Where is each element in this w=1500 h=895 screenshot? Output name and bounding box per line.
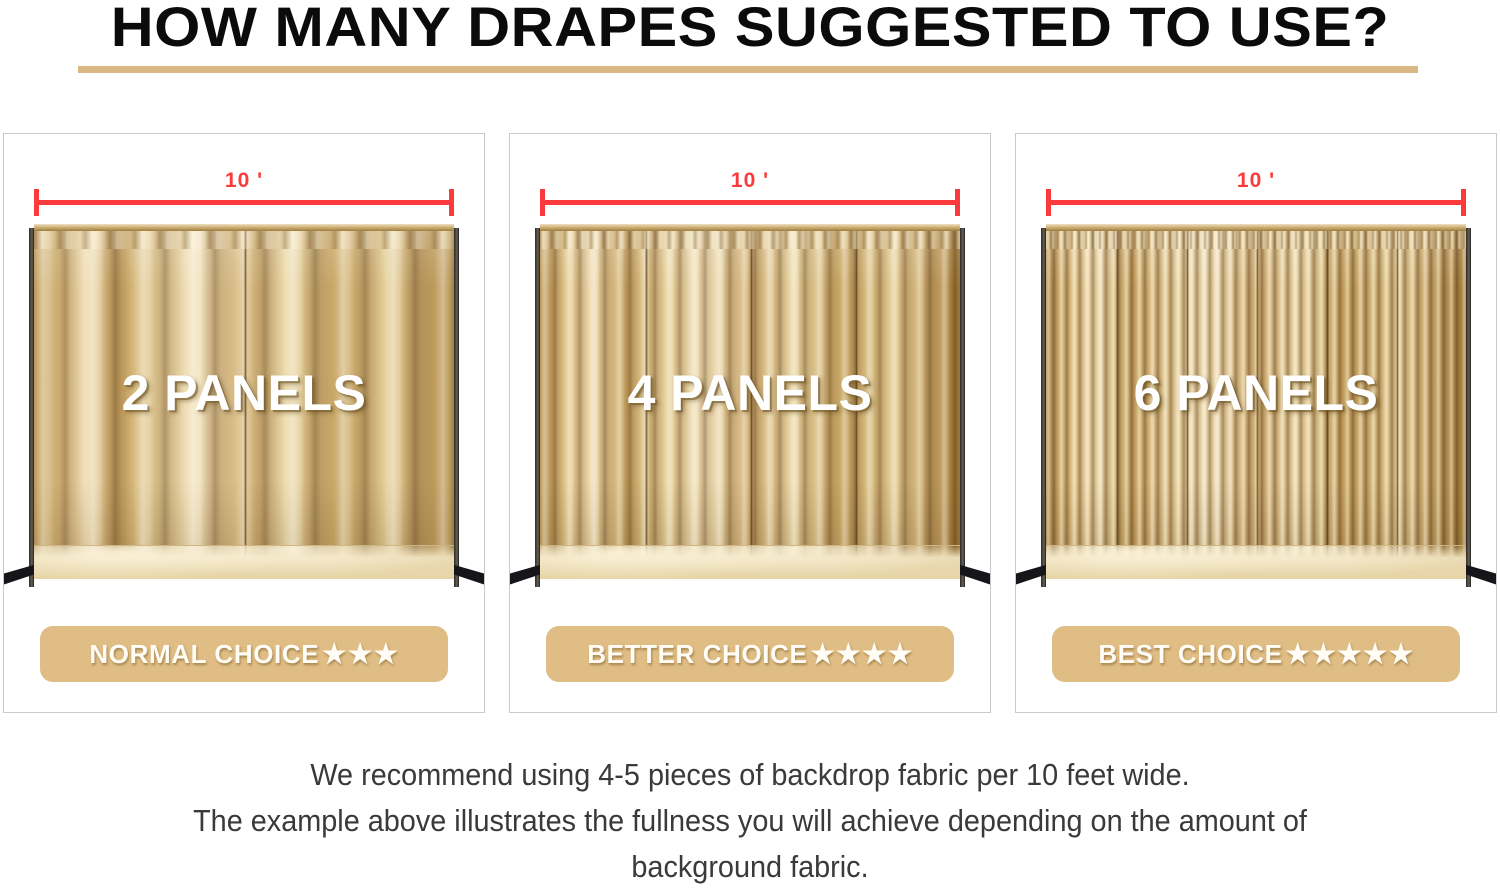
dimension-cap-right-icon (1461, 189, 1466, 216)
star-icon: ★ (1311, 641, 1336, 668)
curtain-hem (1046, 545, 1466, 579)
dimension-line (1046, 200, 1466, 205)
footer-line-1: We recommend using 4-5 pieces of backdro… (53, 752, 1448, 798)
dimension-label: 10 ' (540, 170, 960, 192)
star-rating-3: ★★★ (321, 641, 398, 668)
width-dimension-4-panels: 10 ' (540, 170, 960, 214)
curtain-gathered-top (1046, 229, 1466, 249)
star-icon: ★ (348, 641, 373, 668)
curtain-hem (34, 545, 454, 579)
star-icon: ★ (862, 641, 887, 668)
panel-count-label-2: 2 PANELS (4, 366, 484, 420)
comparison-card-row: 10 ' 2 PANEL (3, 133, 1497, 713)
dimension-cap-right-icon (449, 189, 454, 216)
curtain-hem (540, 545, 960, 579)
dimension-cap-left-icon (540, 189, 545, 216)
dimension-label: 10 ' (1046, 170, 1466, 192)
backdrop-rod (1046, 224, 1466, 231)
star-icon: ★ (836, 641, 861, 668)
dimension-cap-right-icon (955, 189, 960, 216)
dimension-cap-left-icon (34, 189, 39, 216)
header: HOW MANY DRAPES SUGGESTED TO USE? (0, 0, 1500, 90)
badge-label: BEST CHOICE (1098, 639, 1282, 670)
choice-badge-better[interactable]: BETTER CHOICE ★★★★ (546, 626, 954, 682)
star-rating-5: ★★★★★ (1285, 641, 1414, 668)
dimension-line (540, 200, 960, 205)
drape-option-card-6-panels[interactable]: 10 ' (1015, 133, 1497, 713)
width-dimension-6-panels: 10 ' (1046, 170, 1466, 214)
badge-content: NORMAL CHOICE ★★★ (89, 639, 398, 670)
choice-badge-normal[interactable]: NORMAL CHOICE ★★★ (40, 626, 448, 682)
drape-option-card-2-panels[interactable]: 10 ' 2 PANEL (3, 133, 485, 713)
star-icon: ★ (374, 641, 399, 668)
dimension-line (34, 200, 454, 205)
curtain-gathered-top (34, 229, 454, 249)
star-icon: ★ (1389, 641, 1414, 668)
page-title: HOW MANY DRAPES SUGGESTED TO USE? (0, 0, 1500, 58)
badge-content: BETTER CHOICE ★★★★ (587, 639, 912, 670)
footer-line-2: The example above illustrates the fullne… (53, 798, 1448, 844)
title-divider (78, 66, 1418, 73)
badge-label: NORMAL CHOICE (89, 639, 319, 670)
backdrop-rod (34, 224, 454, 231)
dimension-label: 10 ' (34, 170, 454, 192)
footer-note: We recommend using 4-5 pieces of backdro… (0, 752, 1500, 890)
star-rating-4: ★★★★ (809, 641, 912, 668)
badge-label: BETTER CHOICE (587, 639, 807, 670)
footer-line-3: background fabric. (53, 844, 1448, 890)
star-icon: ★ (322, 641, 347, 668)
choice-badge-best[interactable]: BEST CHOICE ★★★★★ (1052, 626, 1460, 682)
width-dimension-2-panels: 10 ' (34, 170, 454, 214)
star-icon: ★ (810, 641, 835, 668)
badge-content: BEST CHOICE ★★★★★ (1098, 639, 1413, 670)
infographic-page: HOW MANY DRAPES SUGGESTED TO USE? 10 ' (0, 0, 1500, 895)
panel-count-label-4: 4 PANELS (510, 366, 990, 420)
star-icon: ★ (1286, 641, 1311, 668)
star-icon: ★ (1337, 641, 1362, 668)
backdrop-rod (540, 224, 960, 231)
star-icon: ★ (1363, 641, 1388, 668)
panel-count-label-6: 6 PANELS (1016, 366, 1496, 420)
star-icon: ★ (888, 641, 913, 668)
curtain-gathered-top (540, 229, 960, 249)
dimension-cap-left-icon (1046, 189, 1051, 216)
drape-option-card-4-panels[interactable]: 10 ' (509, 133, 991, 713)
